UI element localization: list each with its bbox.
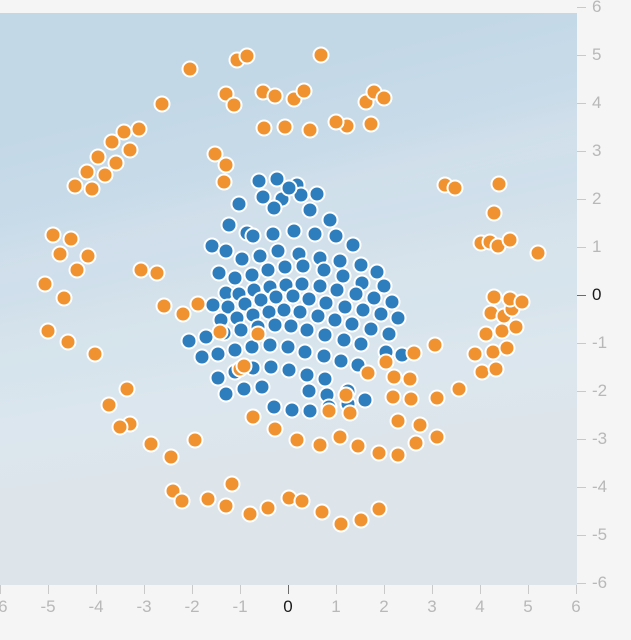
data-point xyxy=(270,242,287,259)
data-point xyxy=(335,332,352,349)
data-point xyxy=(301,383,318,400)
data-point xyxy=(332,516,349,533)
data-point xyxy=(331,429,348,446)
y-tick-label: 3 xyxy=(592,141,601,161)
data-point xyxy=(317,327,334,344)
data-point xyxy=(80,247,97,264)
data-point xyxy=(302,121,319,138)
y-tick-mark xyxy=(577,343,586,344)
data-point xyxy=(149,264,166,281)
data-point xyxy=(51,245,68,262)
data-point xyxy=(328,228,345,245)
data-point xyxy=(283,402,300,419)
data-point xyxy=(174,493,191,510)
x-tick-mark xyxy=(528,585,529,594)
data-point xyxy=(407,434,424,451)
y-tick-mark xyxy=(577,295,586,296)
data-point xyxy=(217,498,234,515)
data-point xyxy=(373,306,390,323)
data-point xyxy=(277,259,294,276)
data-point xyxy=(312,47,329,64)
data-point xyxy=(232,321,249,338)
x-tick-label: 2 xyxy=(379,597,388,617)
data-point xyxy=(390,412,407,429)
x-tick-mark xyxy=(384,585,385,594)
y-tick-label: 1 xyxy=(592,237,601,257)
data-point xyxy=(60,334,77,351)
data-point xyxy=(245,408,262,425)
data-point xyxy=(297,343,314,360)
y-tick-mark xyxy=(577,103,586,104)
data-point xyxy=(280,180,297,197)
data-point xyxy=(104,134,121,151)
data-point xyxy=(200,491,217,508)
y-tick-mark xyxy=(577,199,586,200)
data-point xyxy=(56,289,73,306)
data-point xyxy=(402,390,419,407)
data-point xyxy=(238,47,255,64)
data-point xyxy=(68,262,85,279)
data-point xyxy=(266,88,283,105)
data-point xyxy=(280,361,297,378)
data-point xyxy=(277,119,294,136)
data-point xyxy=(217,242,234,259)
data-point xyxy=(514,293,531,310)
y-tick-label: -5 xyxy=(592,525,607,545)
data-point xyxy=(295,258,312,275)
x-tick-label: -5 xyxy=(40,597,55,617)
data-point xyxy=(294,493,311,510)
data-point xyxy=(315,262,332,279)
data-point xyxy=(362,320,379,337)
data-point xyxy=(384,388,401,405)
scatter-plot-figure: -6-5-4-3-2-10123456 6543210-1-2-3-4-5-6 xyxy=(0,0,631,640)
data-point xyxy=(352,257,369,274)
y-tick-mark xyxy=(577,7,586,8)
data-point xyxy=(426,336,443,353)
data-point xyxy=(362,116,379,133)
data-point xyxy=(359,364,376,381)
data-point xyxy=(142,435,159,452)
data-point xyxy=(315,348,332,365)
data-point xyxy=(352,511,369,528)
x-tick-mark xyxy=(192,585,193,594)
data-point xyxy=(266,316,283,333)
data-point xyxy=(96,167,113,184)
data-point xyxy=(37,276,54,293)
x-tick-mark xyxy=(240,585,241,594)
data-point xyxy=(371,501,388,518)
data-point xyxy=(327,311,344,328)
x-tick-label: -1 xyxy=(232,597,247,617)
x-tick-mark xyxy=(288,585,289,594)
data-point xyxy=(256,119,273,136)
x-tick-mark xyxy=(96,585,97,594)
data-point xyxy=(321,403,338,420)
data-point xyxy=(193,349,210,366)
data-point xyxy=(217,157,234,174)
y-tick-mark xyxy=(577,583,586,584)
y-tick-mark xyxy=(577,535,586,536)
data-point xyxy=(209,369,226,386)
y-tick-label: -6 xyxy=(592,573,607,593)
data-point xyxy=(302,201,319,218)
x-tick-label: 5 xyxy=(523,597,532,617)
data-point xyxy=(209,345,226,362)
data-point xyxy=(243,266,260,283)
y-tick-mark xyxy=(577,55,586,56)
data-point xyxy=(401,370,418,387)
data-point xyxy=(491,175,508,192)
data-point xyxy=(121,142,138,159)
data-point xyxy=(231,195,248,212)
data-point xyxy=(79,164,96,181)
x-tick-mark xyxy=(480,585,481,594)
y-tick-label: -2 xyxy=(592,381,607,401)
data-point xyxy=(241,505,258,522)
data-point xyxy=(189,295,206,312)
data-point xyxy=(265,399,282,416)
data-point xyxy=(211,324,228,341)
data-point xyxy=(235,358,252,375)
data-point xyxy=(262,359,279,376)
y-tick-mark xyxy=(577,439,586,440)
data-point xyxy=(306,225,323,242)
x-tick-mark xyxy=(336,585,337,594)
x-tick-mark xyxy=(48,585,49,594)
data-point xyxy=(371,445,388,462)
data-point xyxy=(227,341,244,358)
data-point xyxy=(501,232,518,249)
data-point xyxy=(302,403,319,420)
data-point xyxy=(342,405,359,422)
data-point xyxy=(352,335,369,352)
data-point xyxy=(288,431,305,448)
data-point xyxy=(133,262,150,279)
x-tick-label: 4 xyxy=(475,597,484,617)
data-point xyxy=(175,306,192,323)
data-point xyxy=(264,225,281,242)
data-point xyxy=(266,421,283,438)
data-point xyxy=(313,503,330,520)
y-tick-label: 4 xyxy=(592,93,601,113)
data-point xyxy=(156,297,173,314)
data-point xyxy=(254,379,271,396)
x-tick-mark xyxy=(144,585,145,594)
data-point xyxy=(44,227,61,244)
x-tick-label: 0 xyxy=(283,597,292,617)
data-point xyxy=(221,216,238,233)
data-point xyxy=(259,500,276,517)
data-point xyxy=(285,222,302,239)
data-point xyxy=(450,381,467,398)
data-point xyxy=(131,120,148,137)
y-tick-label: 2 xyxy=(592,189,601,209)
data-point xyxy=(350,437,367,454)
y-tick-label: 5 xyxy=(592,45,601,65)
data-point xyxy=(385,368,402,385)
y-tick-label: -3 xyxy=(592,429,607,449)
y-tick-mark xyxy=(577,391,586,392)
y-tick-label: 0 xyxy=(592,285,601,305)
data-point xyxy=(235,381,252,398)
data-point xyxy=(356,391,373,408)
x-tick-label: 3 xyxy=(427,597,436,617)
data-point xyxy=(477,326,494,343)
x-axis: -6-5-4-3-2-10123456 xyxy=(0,585,631,640)
data-point xyxy=(63,231,80,248)
y-axis: 6543210-1-2-3-4-5-6 xyxy=(577,0,631,640)
y-tick-mark xyxy=(577,151,586,152)
data-point xyxy=(486,205,503,222)
data-point xyxy=(89,148,106,165)
data-point xyxy=(66,177,83,194)
data-point xyxy=(112,419,129,436)
plot-area xyxy=(0,13,577,585)
data-point xyxy=(390,310,407,327)
y-tick-mark xyxy=(577,247,586,248)
y-tick-mark xyxy=(577,487,586,488)
data-point xyxy=(405,344,422,361)
data-point xyxy=(345,237,362,254)
y-tick-label: -4 xyxy=(592,477,607,497)
data-point xyxy=(227,269,244,286)
data-point xyxy=(181,333,198,350)
data-point xyxy=(250,326,267,343)
data-point xyxy=(259,262,276,279)
data-point xyxy=(215,173,232,190)
data-point xyxy=(380,326,397,343)
y-tick-label: 6 xyxy=(592,0,601,17)
data-point xyxy=(84,181,101,198)
data-point xyxy=(467,345,484,362)
data-point xyxy=(101,397,118,414)
data-point xyxy=(217,385,234,402)
data-point xyxy=(328,114,345,131)
data-point xyxy=(299,366,316,383)
data-point xyxy=(332,353,349,370)
data-point xyxy=(411,416,428,433)
data-point xyxy=(118,381,135,398)
data-point xyxy=(224,476,241,493)
x-tick-mark xyxy=(0,585,1,594)
x-tick-label: -2 xyxy=(184,597,199,617)
data-point xyxy=(376,90,393,107)
data-point xyxy=(226,96,243,113)
data-point xyxy=(265,199,282,216)
data-point xyxy=(498,339,515,356)
x-tick-label: -6 xyxy=(0,597,8,617)
data-point xyxy=(529,244,546,261)
x-tick-label: -4 xyxy=(88,597,103,617)
data-point xyxy=(390,447,407,464)
y-tick-label: -1 xyxy=(592,333,607,353)
data-point xyxy=(181,61,198,78)
data-point xyxy=(186,431,203,448)
data-point xyxy=(251,172,268,189)
data-point xyxy=(447,180,464,197)
data-point xyxy=(322,212,339,229)
data-point xyxy=(233,251,250,268)
data-point xyxy=(428,429,445,446)
data-point xyxy=(282,317,299,334)
data-point xyxy=(87,345,104,362)
data-point xyxy=(40,322,57,339)
data-point xyxy=(296,83,313,100)
data-point xyxy=(428,389,445,406)
data-point xyxy=(154,95,171,112)
x-tick-label: -3 xyxy=(136,597,151,617)
data-point xyxy=(245,228,262,245)
x-tick-label: 1 xyxy=(331,597,340,617)
data-point xyxy=(337,386,354,403)
data-point xyxy=(299,321,316,338)
data-point xyxy=(344,315,361,332)
data-point xyxy=(162,449,179,466)
data-point xyxy=(210,264,227,281)
data-point xyxy=(311,436,328,453)
x-tick-mark xyxy=(432,585,433,594)
data-point xyxy=(488,360,505,377)
data-point xyxy=(280,338,297,355)
